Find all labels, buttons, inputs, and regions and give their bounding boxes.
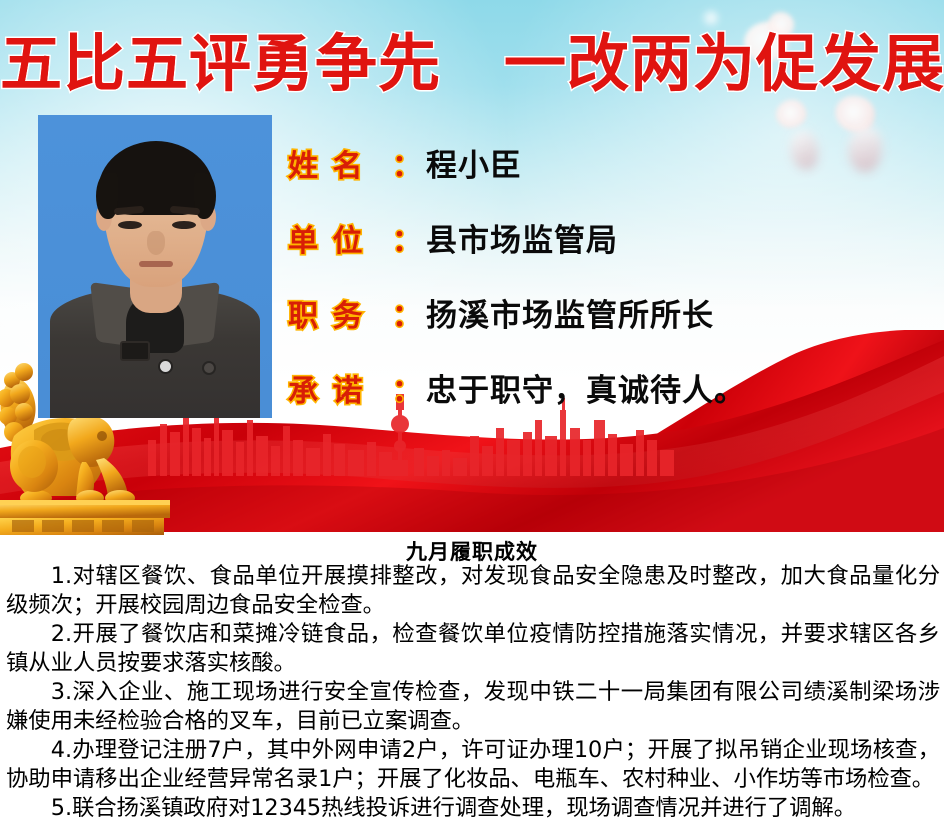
profile-label-unit: 单 位	[288, 216, 392, 260]
photo-jacket-button	[160, 361, 171, 372]
profile-value-pledge: 忠于职守，真诚待人。	[426, 365, 746, 410]
report-body: 1.对辖区餐饮、食品单位开展摸排整改，对发现食品安全隐患及时整改，加大食品量化分…	[6, 562, 940, 823]
avatar	[38, 115, 272, 418]
photo-nose	[147, 231, 165, 255]
photo-eye-left	[118, 221, 142, 229]
profile-value-unit: 县市场监管局	[426, 215, 618, 260]
photo-jacket-button	[204, 363, 214, 373]
profile-value-position: 扬溪市场监管所所长	[426, 290, 714, 335]
profile-info: 姓 名 ： 程小臣 单 位 ： 县市场监管局 职 务 ： 扬溪市场监管所所长 承…	[288, 140, 928, 440]
report-item: 4.办理登记注册7户，其中外网申请2户，许可证办理10户；开展了拟吊销企业现场核…	[6, 736, 940, 794]
profile-colon: ：	[392, 366, 422, 410]
profile-row-name: 姓 名 ： 程小臣	[288, 140, 928, 215]
profile-colon: ：	[392, 291, 422, 335]
profile-label-position: 职 务	[288, 291, 392, 335]
profile-colon: ：	[392, 141, 422, 185]
report-item: 1.对辖区餐饮、食品单位开展摸排整改，对发现食品安全隐患及时整改，加大食品量化分…	[6, 562, 940, 620]
photo-mouth	[139, 261, 173, 267]
profile-label-name: 姓 名	[288, 141, 392, 185]
profile-row-pledge: 承 诺 ： 忠于职守，真诚待人。	[288, 365, 928, 440]
report-item: 2.开展了餐饮店和菜摊冷链食品，检查餐饮单位疫情防控措施落实情况，并要求辖区各乡…	[6, 620, 940, 678]
report-item: 5.联合扬溪镇政府对12345热线投诉进行调查处理，现场调查情况并进行了调解。	[6, 794, 940, 823]
flower-icon	[700, 8, 722, 28]
photo-eye-right	[172, 221, 196, 229]
report-item: 3.深入企业、施工现场进行安全宣传检查，发现中铁二十一局集团有限公司绩溪制梁场涉…	[6, 678, 940, 736]
page-title: 五比五评勇争先 一改两为促发展	[0, 33, 944, 95]
profile-row-position: 职 务 ： 扬溪市场监管所所长	[288, 290, 928, 365]
profile-label-pledge: 承 诺	[288, 366, 392, 410]
profile-value-name: 程小臣	[426, 140, 522, 185]
promo-poster: 五比五评勇争先 一改两为促发展 五比五评勇争先 一改两为促发展	[0, 0, 944, 831]
photo-jacket-tab	[120, 341, 150, 361]
profile-row-unit: 单 位 ： 县市场监管局	[288, 215, 928, 290]
profile-colon: ：	[392, 216, 422, 260]
